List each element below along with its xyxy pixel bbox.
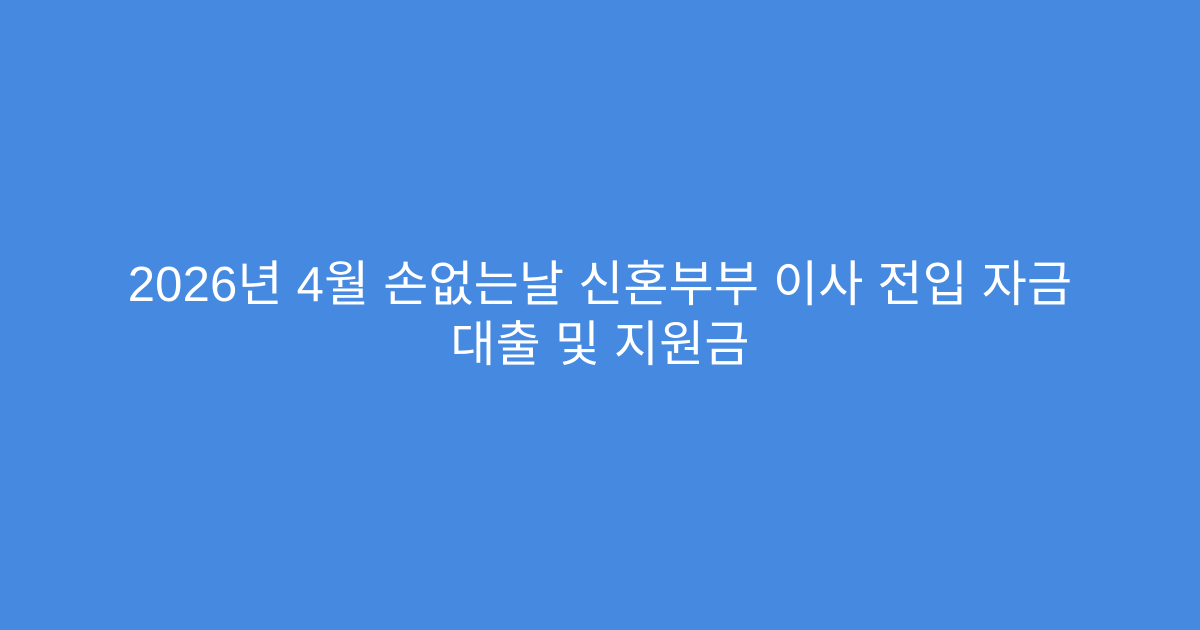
title-block: 2026년 4월 손없는날 신혼부부 이사 전입 자금 대출 및 지원금	[95, 255, 1105, 375]
page-title: 2026년 4월 손없는날 신혼부부 이사 전입 자금 대출 및 지원금	[105, 255, 1095, 375]
thumbnail-card: 2026년 4월 손없는날 신혼부부 이사 전입 자금 대출 및 지원금	[0, 0, 1200, 630]
